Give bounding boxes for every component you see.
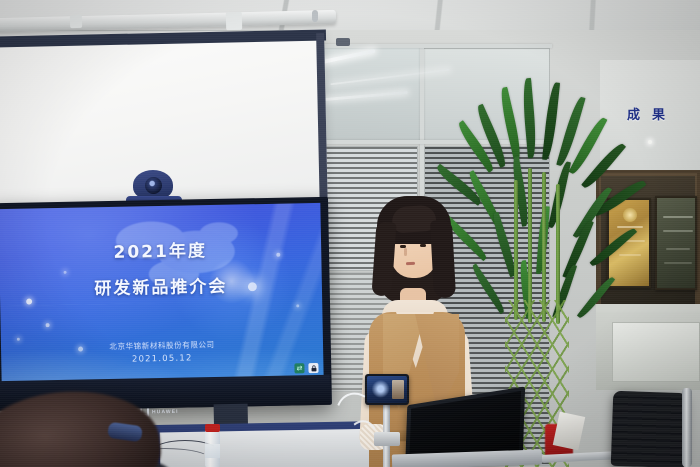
huawei-wordmark: HUAWEI [152,409,179,416]
slide-title-line1: 2021年度 [0,241,321,265]
camera-lens-icon [145,177,162,194]
photo-scene: 2021年度 研发新品推介会 北京华锦新材科股份有限公司 2021.05.12 … [0,0,700,467]
bottle-label [205,444,220,458]
presenter-hair-right [430,219,456,298]
presenter-nose [404,248,407,256]
wall-light-spot [648,140,652,144]
roller-bracket-right [226,12,242,30]
bottle-cap [205,424,220,432]
display-panel-screen[interactable]: 2021年度 研发新品推介会 北京华锦新材科股份有限公司 2021.05.12 … [0,203,324,383]
ceiling-mount-bracket [336,38,350,46]
chair-chrome-frame [682,388,692,467]
slide-status-icons: ⇄ [294,363,318,373]
roller-bracket-left [70,15,82,28]
wall-sign-char-2: 果 [652,104,665,124]
office-chair-back[interactable] [611,391,688,467]
lock-icon[interactable] [308,363,318,373]
bokeh-dot [46,323,50,327]
wall-sign-char-1: 成 [627,104,640,124]
slide-title-block: 2021年度 研发新品推介会 [0,241,322,301]
phone-preview-subject [392,380,404,399]
cast-icon[interactable]: ⇄ [294,363,304,373]
presenter-mouth [406,262,415,265]
bokeh-dot [17,337,20,340]
cabinet-lower-panel [612,322,700,382]
dark-certificate-plaque [655,196,697,290]
wall-sign: 成 果 [627,104,685,124]
roller-hook [312,10,318,22]
